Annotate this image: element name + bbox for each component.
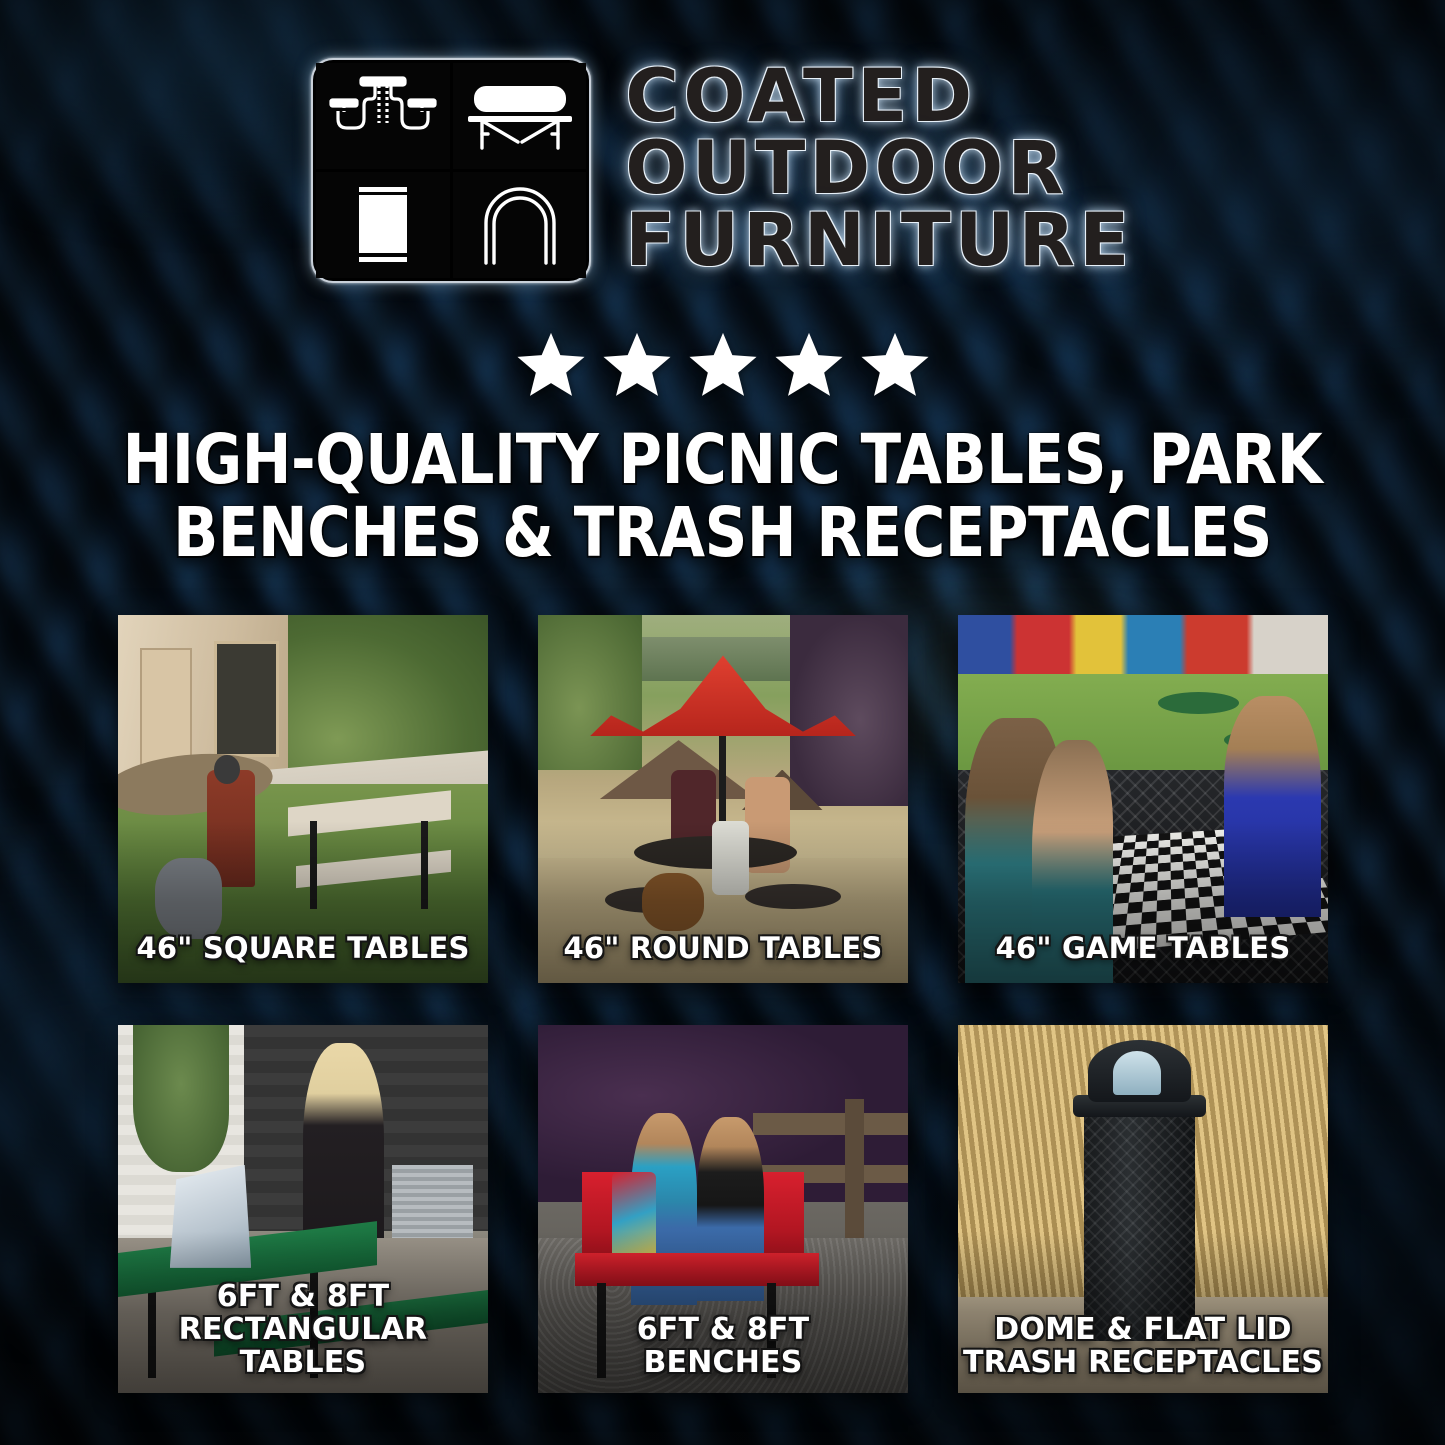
logo-mark: [311, 58, 591, 283]
star-icon: [687, 330, 759, 400]
brand-header: COATED OUTDOOR FURNITURE: [0, 58, 1445, 283]
star-icon: [859, 330, 931, 400]
product-card-round-tables[interactable]: 46" ROUND TABLES: [538, 615, 908, 983]
product-caption: 46" ROUND TABLES: [538, 933, 908, 965]
product-caption: DOME & FLAT LID TRASH RECEPTACLES: [958, 1313, 1328, 1379]
product-grid: 46" SQUARE TABLES 46" ROUND TABLES: [118, 615, 1328, 1393]
page-title: HIGH-QUALITY PICNIC TABLES, PARK BENCHES…: [101, 424, 1344, 570]
star-icon: [601, 330, 673, 400]
product-photo-square-tables: [118, 615, 488, 983]
brand-name-line-3: FURNITURE: [625, 206, 1133, 276]
brand-name-line-1: COATED: [625, 62, 1133, 132]
product-card-benches[interactable]: 6FT & 8FT BENCHES: [538, 1025, 908, 1393]
square-picnic-table-icon: [316, 63, 450, 169]
star-icon: [515, 330, 587, 400]
brand-wordmark: COATED OUTDOOR FURNITURE: [625, 58, 1133, 276]
product-card-rectangular-tables[interactable]: 6FT & 8FT RECTANGULAR TABLES: [118, 1025, 488, 1393]
product-caption: 46" SQUARE TABLES: [118, 933, 488, 965]
product-photo-game-tables: [958, 615, 1328, 983]
park-bench-icon: [453, 63, 587, 169]
trash-receptacle-icon: [316, 172, 450, 278]
product-card-trash-receptacles[interactable]: DOME & FLAT LID TRASH RECEPTACLES: [958, 1025, 1328, 1393]
promo-graphic: COATED OUTDOOR FURNITURE HIGH-QUALITY PI…: [0, 0, 1445, 1445]
star-icon: [773, 330, 845, 400]
product-caption: 6FT & 8FT BENCHES: [538, 1313, 908, 1379]
dome-lid-icon: [453, 172, 587, 278]
product-card-game-tables[interactable]: 46" GAME TABLES: [958, 615, 1328, 983]
star-rating: [0, 330, 1445, 400]
product-caption: 6FT & 8FT RECTANGULAR TABLES: [118, 1280, 488, 1379]
product-photo-round-tables: [538, 615, 908, 983]
brand-name-line-2: OUTDOOR: [625, 134, 1133, 204]
product-card-square-tables[interactable]: 46" SQUARE TABLES: [118, 615, 488, 983]
product-caption: 46" GAME TABLES: [958, 933, 1328, 965]
